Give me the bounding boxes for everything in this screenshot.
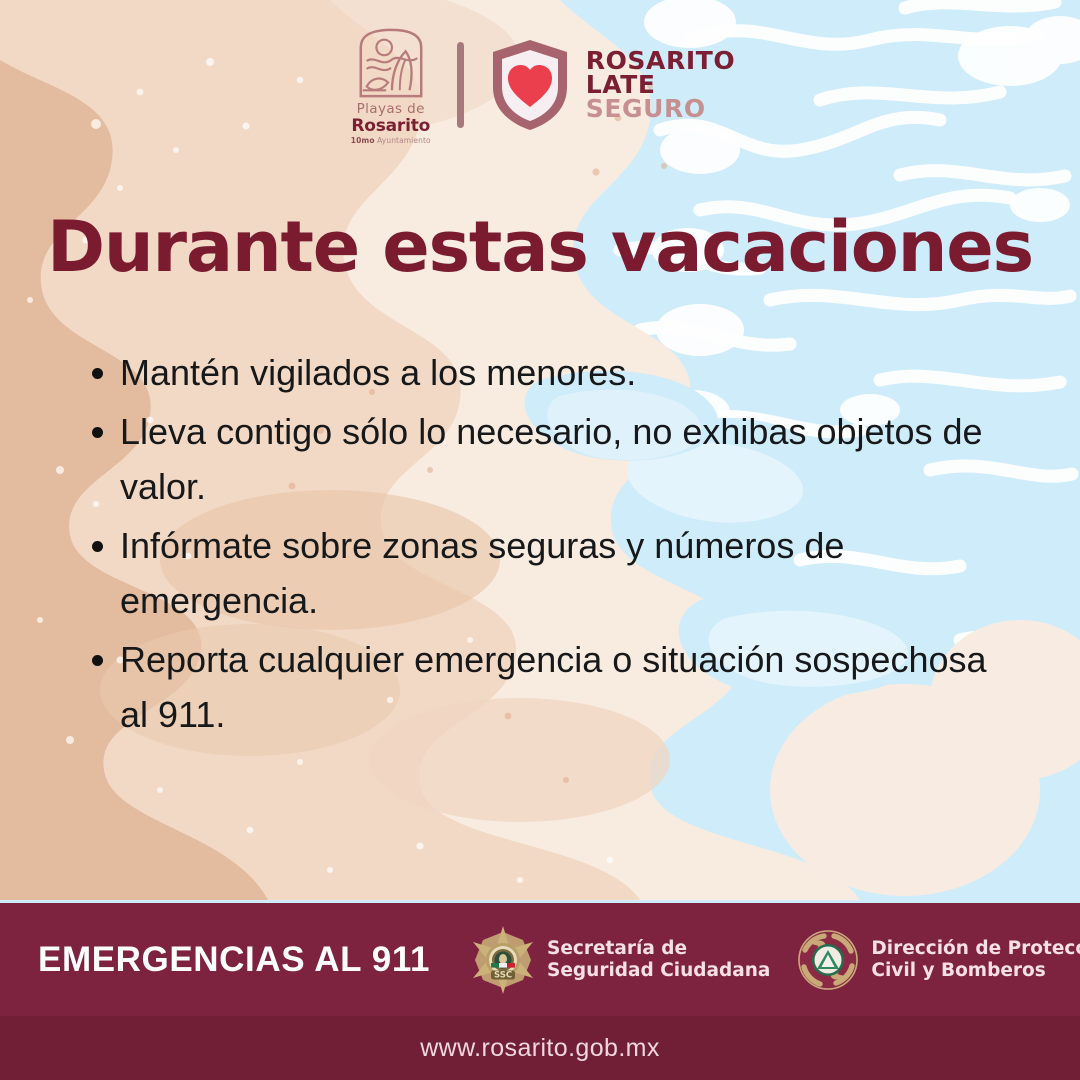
tips-list: Mantén vigilados a los menores. Lleva co…	[92, 345, 992, 747]
list-item: Mantén vigilados a los menores.	[92, 345, 992, 400]
crest-ayto-number: 10mo	[351, 136, 375, 145]
org-pc-text: Dirección de Protección Civil y Bomberos	[871, 938, 1080, 982]
crest-ayuntamiento-label: 10mo Ayuntamiento	[351, 137, 431, 145]
list-item: Lleva contigo sólo lo necesario, no exhi…	[92, 404, 992, 514]
ssc-badge-icon: SSC	[470, 925, 536, 995]
org-pc-line1: Dirección de Protección	[871, 938, 1080, 960]
emergency-label: EMERGENCIAS AL 911	[38, 940, 430, 980]
rosarito-crest-icon	[352, 26, 430, 102]
org-proteccion-civil[interactable]: Dirección de Protección Civil y Bomberos	[796, 927, 1080, 993]
bullet-dot-icon	[92, 368, 103, 379]
org-ssc-line2: Seguridad Ciudadana	[547, 960, 770, 982]
proteccion-civil-icon	[796, 927, 860, 993]
list-item-text: Lleva contigo sólo lo necesario, no exhi…	[120, 404, 992, 514]
list-item-text: Reporta cualquier emergencia o situación…	[120, 632, 992, 742]
footer-main-bar: EMERGENCIAS AL 911	[0, 903, 1080, 1016]
website-url[interactable]: www.rosarito.gob.mx	[0, 1034, 1080, 1063]
crest-playas-label: Playas de	[351, 103, 431, 117]
crest-ayto-word: Ayuntamiento	[375, 136, 431, 145]
footer-orgs: SSC Secretaría de Seguridad Ciudadana	[470, 925, 1080, 995]
poster: Playas de Rosarito 10mo Ayuntamiento ROS…	[0, 0, 1080, 1080]
footer: EMERGENCIAS AL 911	[0, 903, 1080, 1080]
list-item: Infórmate sobre zonas seguras y números …	[92, 518, 992, 628]
shield-heart-icon	[488, 37, 572, 133]
crest-rosarito-label: Rosarito	[351, 118, 431, 135]
bullet-dot-icon	[92, 541, 103, 552]
org-ssc-line1: Secretaría de	[547, 938, 770, 960]
rosarito-crest-logo[interactable]: Playas de Rosarito 10mo Ayuntamiento	[345, 26, 437, 144]
org-pc-line2: Civil y Bomberos	[871, 960, 1080, 982]
header: Playas de Rosarito 10mo Ayuntamiento ROS…	[0, 26, 1080, 144]
brand-line-seguro: SEGURO	[586, 97, 736, 121]
page-title: Durante estas vacaciones	[0, 206, 1080, 288]
bullet-dot-icon	[92, 427, 103, 438]
header-divider	[457, 42, 464, 128]
org-ssc-text: Secretaría de Seguridad Ciudadana	[547, 938, 770, 982]
svg-text:SSC: SSC	[494, 970, 512, 980]
org-ssc[interactable]: SSC Secretaría de Seguridad Ciudadana	[470, 925, 770, 995]
rosarito-late-seguro-logo[interactable]: ROSARITO LATE SEGURO	[488, 37, 736, 133]
list-item-text: Infórmate sobre zonas seguras y números …	[120, 518, 992, 628]
bullet-dot-icon	[92, 655, 103, 666]
list-item-text: Mantén vigilados a los menores.	[120, 345, 992, 400]
list-item: Reporta cualquier emergencia o situación…	[92, 632, 992, 742]
